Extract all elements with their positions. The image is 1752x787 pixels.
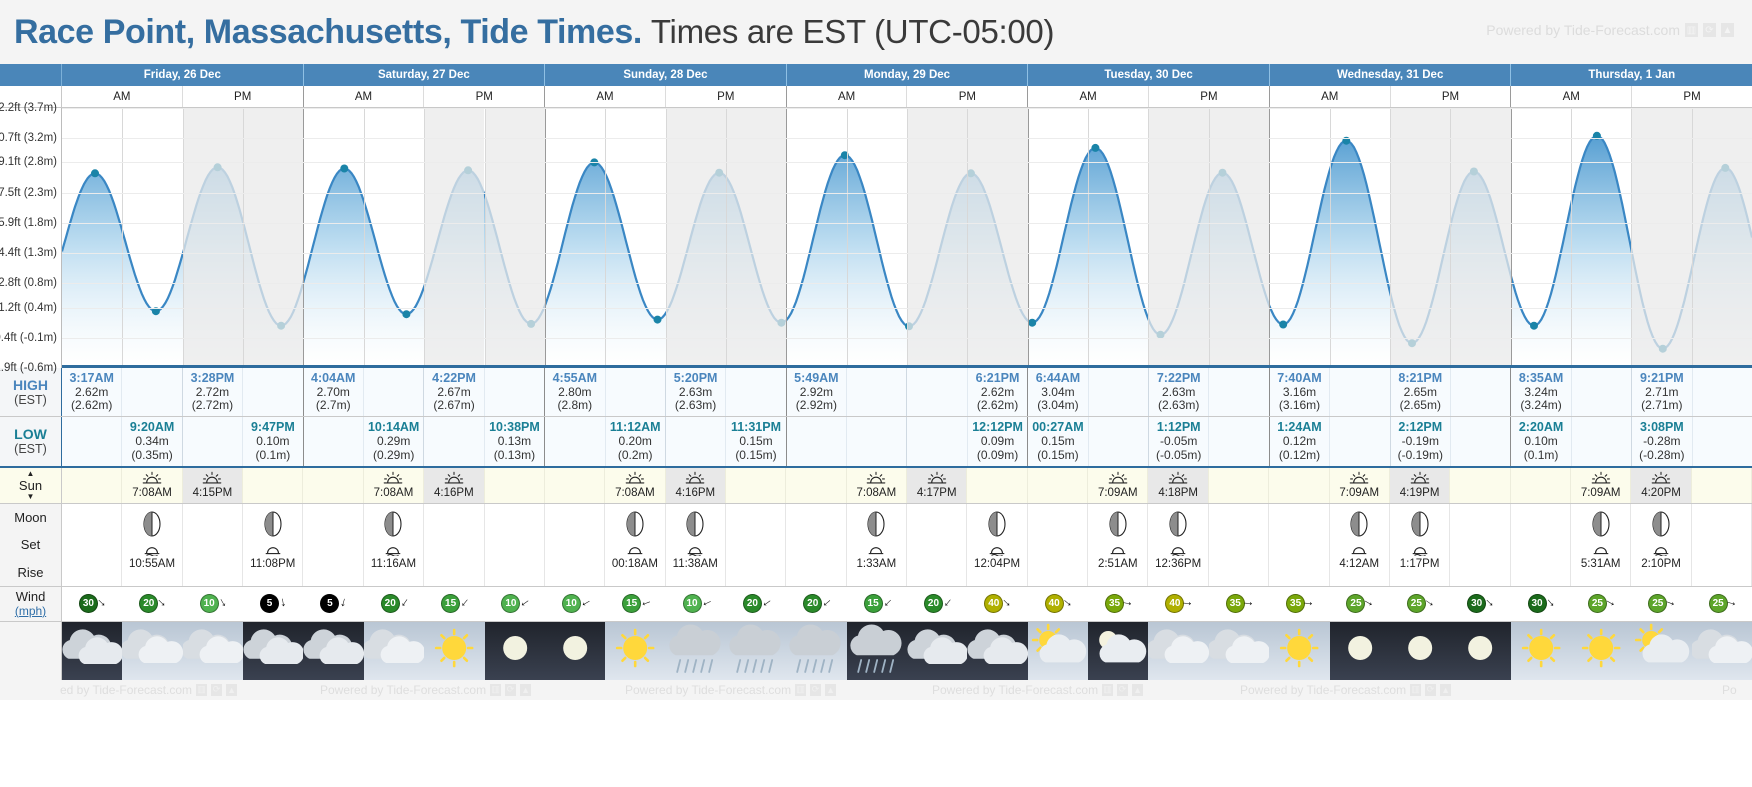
tide-time: 10:14AM: [368, 420, 419, 435]
chart-gridline-v-15: [967, 108, 968, 368]
tide-time: 4:04AM: [311, 371, 355, 386]
high-tide-cell-15: 6:21PM2.62m(2.62m): [968, 368, 1028, 416]
tide-height: 3.24m: [1524, 386, 1557, 400]
low-tide-cell-2: [183, 417, 243, 465]
tide-time: 4:55AM: [553, 371, 597, 386]
sun-cell-27: [1692, 468, 1752, 503]
half-header-am-0: AM: [62, 86, 183, 107]
tide-height-alt: (3.04m): [1037, 399, 1078, 413]
half-header-pm-9: PM: [1149, 86, 1270, 107]
tide-height: 0.10m: [256, 435, 289, 449]
wind-cell-8: 10↑: [545, 587, 605, 621]
chart-shaded-band-18: [1148, 108, 1208, 368]
wind-cell-6: 15↑: [424, 587, 484, 621]
moon-label-text: Moon: [14, 510, 47, 525]
weather-cell-26: [1631, 622, 1691, 680]
chart-gridline-v-22: [1390, 108, 1391, 368]
weather-cell-25: [1571, 622, 1631, 680]
wind-row-label: Wind (mph): [0, 587, 62, 621]
tide-height: 0.20m: [619, 435, 652, 449]
moon-time: 10:55AM: [129, 558, 175, 571]
high-tide-marker-4: [340, 165, 348, 173]
moon-phase-icon: [1167, 511, 1189, 537]
caret-down-icon: ▼: [27, 493, 35, 501]
tide-height-alt: (0.1m): [1524, 449, 1559, 463]
tide-time: 2:12PM: [1398, 420, 1442, 435]
wind-cell-12: 20↑: [786, 587, 846, 621]
sun-cell-14: 4:17PM: [907, 468, 967, 503]
tide-height-alt: (3.16m): [1279, 399, 1320, 413]
high-tide-cell-1: [122, 368, 182, 416]
moonset-icon: [1410, 543, 1430, 556]
chart-gridline-h-4: [62, 223, 1752, 224]
weather-cell-1: [122, 622, 182, 680]
chart-shaded-band-2: [183, 108, 243, 368]
moonset-icon: [142, 543, 162, 556]
tide-icon: ▲: [1132, 684, 1143, 696]
sun-cell-1: 7:08AM: [122, 468, 182, 503]
sun-cell-18: 4:18PM: [1148, 468, 1208, 503]
wind-direction-arrow-icon: ↑: [1423, 598, 1437, 611]
tide-height-alt: (2.62m): [71, 399, 112, 413]
rain-icon: [847, 622, 907, 680]
half-header-label: PM: [476, 91, 493, 103]
tide-icon: ▲: [226, 684, 237, 696]
y-axis-tick-6: 2.8ft (0.8m): [0, 277, 57, 289]
chart-gridline-v-2: [183, 108, 184, 368]
weather-cell-8: [545, 622, 605, 680]
chart-gridline-v-16: [1028, 108, 1029, 368]
low-tide-label: LOW (EST): [0, 417, 62, 465]
low-tide-marker-15: [1028, 319, 1036, 327]
wind-row: Wind (mph) 30↑20↑10↑5↑5↑20↑15↑10↑10↑15↑1…: [0, 587, 1752, 622]
sunset-icon: [1650, 471, 1672, 486]
sun-cell-13: 7:08AM: [847, 468, 907, 503]
wind-direction-arrow-icon: ↑: [458, 597, 471, 611]
tide-height: 2.63m: [1162, 386, 1195, 400]
sunny-icon: [424, 622, 484, 680]
sunset-icon: [1167, 471, 1189, 486]
weather-row-label: [0, 622, 62, 680]
half-header-label: AM: [1321, 91, 1338, 103]
moonrise-icon: [866, 543, 886, 556]
wind-direction-arrow-icon: ↑: [1484, 597, 1498, 611]
chart-gridline-v-23: [1450, 108, 1451, 368]
wind-speed-badge: 20: [381, 594, 400, 613]
moonset-icon: [1168, 543, 1188, 556]
wind-direction-arrow-icon: ↑: [1182, 600, 1196, 608]
moon-phase-icon: [141, 511, 163, 537]
low-tide-cell-4: [304, 417, 364, 465]
half-header-pm-11: PM: [1391, 86, 1512, 107]
high-tide-cell-0: 3:17AM2.62m(2.62m): [62, 368, 122, 416]
low-tide-cell-19: [1209, 417, 1269, 465]
moon-cell-17: 2:51AM: [1088, 504, 1148, 586]
tide-height-alt: (0.1m): [256, 449, 291, 463]
tide-chart: 12.2ft (3.7m)10.7ft (3.2m)9.1ft (2.8m)7.…: [0, 108, 1752, 368]
chart-icon: ▥: [490, 684, 501, 696]
wind-label-text: Wind: [16, 589, 46, 604]
moon-cell-26: 2:10PM: [1631, 504, 1691, 586]
wind-direction-arrow-icon: ↑: [1001, 597, 1015, 611]
low-tide-cell-26: 3:08PM-0.28m(-0.28m): [1632, 417, 1692, 465]
sun-time: 4:17PM: [917, 487, 957, 500]
partly-cloudy-icon: [1631, 622, 1691, 680]
moon-time: 2:10PM: [1641, 558, 1681, 571]
moon-row-label: Moon Set Rise: [0, 504, 62, 586]
wind-direction-arrow-icon: ↑: [1362, 598, 1377, 610]
chart-gridline-v-25: [1571, 108, 1572, 368]
wind-cell-4: 5↑: [303, 587, 363, 621]
tide-height-alt: (2.62m): [977, 399, 1018, 413]
tide-time: 9:21PM: [1640, 371, 1684, 386]
wind-cell-26: 25↑: [1631, 587, 1691, 621]
half-header-am-12: AM: [1511, 86, 1632, 107]
moon-cell-1: 10:55AM: [122, 504, 182, 586]
wind-direction-arrow-icon: ↑: [217, 597, 229, 612]
wind-direction-arrow-icon: ↑: [1121, 600, 1135, 609]
half-header-label: PM: [717, 91, 734, 103]
tide-time: 8:21PM: [1398, 371, 1442, 386]
wind-cell-5: 20↑: [364, 587, 424, 621]
low-tide-cell-7: 10:38PM0.13m(0.13m): [485, 417, 545, 465]
chart-gridline-h-8: [62, 338, 1752, 339]
chart-gridline-h-6: [62, 283, 1752, 284]
wind-cell-2: 10↑: [183, 587, 243, 621]
chart-gridline-v-4: [303, 108, 304, 368]
wind-cell-7: 10↑: [485, 587, 545, 621]
high-tide-cell-21: [1330, 368, 1390, 416]
wind-direction-arrow-icon: ↑: [1664, 599, 1678, 610]
rain-icon: [666, 622, 726, 680]
weather-cell-13: [847, 622, 907, 680]
low-tide-cell-9: 11:12AM0.20m(0.2m): [606, 417, 666, 465]
y-axis-tick-2: 9.1ft (2.8m): [0, 156, 57, 168]
high-tide-cell-7: [485, 368, 545, 416]
moon-phase-icon: [865, 511, 887, 537]
cloudy-icon: [183, 622, 243, 680]
tide-height: 0.09m: [981, 435, 1014, 449]
sunrise-icon: [624, 471, 646, 486]
chart-gridline-v-11: [726, 108, 727, 368]
wind-cell-9: 15↑: [605, 587, 665, 621]
tide-icon: ▲: [520, 684, 531, 696]
low-tide-cell-25: [1572, 417, 1632, 465]
high-tide-cell-8: 4:55AM2.80m(2.8m): [545, 368, 605, 416]
tide-height-alt: (-0.19m): [1398, 449, 1443, 463]
wind-speed-badge: 20: [139, 594, 158, 613]
half-header-label: PM: [1442, 91, 1459, 103]
half-header-am-4: AM: [545, 86, 666, 107]
powered-by-watermark: Powered by Tide-Forecast.com ▥ ⟳ ▲: [1486, 22, 1734, 38]
high-tide-cell-22: 8:21PM2.65m(2.65m): [1391, 368, 1451, 416]
wind-speed-badge: 15: [441, 594, 460, 613]
chart-gridline-v-10: [666, 108, 667, 368]
tide-time: 4:22PM: [432, 371, 476, 386]
tide-curve-plot: [62, 108, 1752, 368]
chart-gridline-h-2: [62, 162, 1752, 163]
y-axis-tick-1: 10.7ft (3.2m): [0, 132, 57, 144]
sun-cell-7: [485, 468, 545, 503]
chart-gridline-v-17: [1088, 108, 1089, 368]
wind-direction-arrow-icon: ↑: [941, 597, 954, 611]
sunrise-icon: [865, 471, 887, 486]
footer-watermark-2: Powered by Tide-Forecast.com ▥ ⟳ ▲: [625, 683, 836, 697]
weather-cell-21: [1330, 622, 1390, 680]
chart-gridline-h-7: [62, 308, 1752, 309]
half-header-label: AM: [596, 91, 613, 103]
wind-speed-badge: 30: [1528, 594, 1547, 613]
axis-corner-spacer: [0, 64, 62, 86]
high-tide-cell-25: [1572, 368, 1632, 416]
weather-cell-12: [786, 622, 846, 680]
wind-direction-arrow-icon: ↑: [398, 597, 411, 611]
moon-cell-12: [786, 504, 846, 586]
tide-height: -0.19m: [1402, 435, 1439, 449]
high-tide-cell-17: [1089, 368, 1149, 416]
moon-cell-23: [1450, 504, 1510, 586]
clear-night-icon: [1450, 622, 1510, 680]
timezone-note: Times are EST (UTC-05:00): [651, 13, 1054, 51]
wind-speed-badge: 40: [1045, 594, 1064, 613]
tide-time: 9:20AM: [130, 420, 174, 435]
tide-height: 0.15m: [739, 435, 772, 449]
tide-height: 2.80m: [558, 386, 591, 400]
cloudy-icon: [1209, 622, 1269, 680]
moon-rise-label: Rise: [17, 565, 43, 580]
moon-phase-icon: [382, 511, 404, 537]
moon-time: 1:17PM: [1400, 558, 1440, 571]
low-tide-cell-10: [666, 417, 726, 465]
half-header-pm-7: PM: [907, 86, 1028, 107]
y-axis-tick-0: 12.2ft (3.7m): [0, 102, 57, 114]
wind-cell-3: 5↑: [243, 587, 303, 621]
half-header-am-2: AM: [304, 86, 425, 107]
sun-cell-25: 7:09AM: [1571, 468, 1631, 503]
day-header-4: Tuesday, 30 Dec: [1028, 64, 1270, 86]
half-header-pm-3: PM: [424, 86, 545, 107]
tide-height: 0.29m: [377, 435, 410, 449]
low-tide-cell-16: 00:27AM0.15m(0.15m): [1028, 417, 1088, 465]
moon-phase-icon: [262, 511, 284, 537]
high-tide-cell-3: [243, 368, 303, 416]
high-label-sub: (EST): [14, 393, 47, 407]
sunset-icon: [443, 471, 465, 486]
sun-cell-16: [1028, 468, 1088, 503]
high-tide-cell-2: 3:28PM2.72m(2.72m): [183, 368, 243, 416]
low-tide-cell-11: 11:31PM0.15m(0.15m): [726, 417, 786, 465]
night-cloudy-icon: [303, 622, 363, 680]
sun-row: ▲ Sun ▼ 7:08AM4:15PM7:08AM4:16PM7:08AM4:…: [0, 468, 1752, 504]
moon-phase-icon: [1409, 511, 1431, 537]
wind-cell-11: 20↑: [726, 587, 786, 621]
wind-unit-link[interactable]: (mph): [15, 604, 46, 618]
sun-time: 4:15PM: [193, 487, 233, 500]
chart-shaded-band-27: [1692, 108, 1752, 368]
wind-cell-13: 15↑: [847, 587, 907, 621]
high-tide-cell-12: 5:49AM2.92m(2.92m): [787, 368, 847, 416]
weather-cell-23: [1450, 622, 1510, 680]
moonset-icon: [685, 543, 705, 556]
tide-height-alt: (2.63m): [675, 399, 716, 413]
sun-cell-11: [726, 468, 786, 503]
tide-height: 0.13m: [498, 435, 531, 449]
high-tide-cell-18: 7:22PM2.63m(2.63m): [1149, 368, 1209, 416]
moonrise-icon: [1591, 543, 1611, 556]
chart-shaded-band-3: [243, 108, 303, 368]
footer-watermark-1: Powered by Tide-Forecast.com ▥ ⟳ ▲: [320, 683, 531, 697]
footer-watermark-4: Powered by Tide-Forecast.com ▥ ⟳ ▲: [1240, 683, 1451, 697]
sun-row-label: ▲ Sun ▼: [0, 468, 62, 503]
moon-cell-13: 1:33AM: [847, 504, 907, 586]
sun-time: 7:08AM: [857, 487, 897, 500]
sun-cell-19: [1209, 468, 1269, 503]
y-axis-tick-9: -1.9ft (-0.6m): [0, 362, 57, 374]
sunny-icon: [605, 622, 665, 680]
tide-height: 2.65m: [1404, 386, 1437, 400]
chart-gridline-v-19: [1209, 108, 1210, 368]
wind-cell-23: 30↑: [1450, 587, 1510, 621]
tide-time: 6:21PM: [976, 371, 1020, 386]
tide-height-alt: (2.67m): [433, 399, 474, 413]
high-tide-cell-26: 9:21PM2.71m(2.71m): [1632, 368, 1692, 416]
low-tide-cell-20: 1:24AM0.12m(0.12m): [1270, 417, 1330, 465]
wind-cell-14: 20↑: [907, 587, 967, 621]
tide-height: 3.16m: [1283, 386, 1316, 400]
half-header-label: PM: [234, 91, 251, 103]
wind-cell-16: 40↑: [1028, 587, 1088, 621]
low-label-sub: (EST): [14, 442, 47, 456]
low-tide-cell-23: [1451, 417, 1511, 465]
chart-shaded-band-23: [1450, 108, 1510, 368]
low-tide-cell-27: [1693, 417, 1752, 465]
tide-height: 2.67m: [437, 386, 470, 400]
moon-cell-27: [1692, 504, 1752, 586]
moon-cell-3: 11:08PM: [243, 504, 303, 586]
tide-height-alt: (2.7m): [316, 399, 351, 413]
refresh-icon: ⟳: [810, 684, 821, 696]
chart-shaded-band-26: [1631, 108, 1691, 368]
chart-gridline-v-26: [1631, 108, 1632, 368]
low-tide-cell-21: [1330, 417, 1390, 465]
wind-cell-1: 20↑: [122, 587, 182, 621]
weather-cell-16: [1028, 622, 1088, 680]
weather-cell-2: [183, 622, 243, 680]
day-header-1: Saturday, 27 Dec: [304, 64, 546, 86]
wind-direction-arrow-icon: ↑: [819, 597, 833, 610]
chart-gridline-v-1: [122, 108, 123, 368]
tide-height-alt: (2.63m): [1158, 399, 1199, 413]
footer-watermark-5: Po: [1722, 683, 1737, 697]
weather-cell-14: [907, 622, 967, 680]
weather-cell-6: [424, 622, 484, 680]
tide-height: 0.12m: [1283, 435, 1316, 449]
y-axis-tick-5: 4.4ft (1.3m): [0, 247, 57, 259]
chart-gridline-v-18: [1148, 108, 1149, 368]
moon-cell-2: [183, 504, 243, 586]
tide-height: 0.34m: [135, 435, 168, 449]
wind-direction-arrow-icon: ↑: [517, 598, 531, 611]
tide-time: 1:24AM: [1277, 420, 1321, 435]
high-label-main: HIGH: [13, 377, 48, 393]
sun-cell-9: 7:08AM: [605, 468, 665, 503]
wind-cell-21: 25↑: [1330, 587, 1390, 621]
day-header-label: Wednesday, 31 Dec: [1337, 69, 1443, 81]
y-axis-tick-3: 7.5ft (2.3m): [0, 187, 57, 199]
sunset-icon: [684, 471, 706, 486]
tide-time: 7:22PM: [1157, 371, 1201, 386]
high-tide-cell-6: 4:22PM2.67m(2.67m): [424, 368, 484, 416]
y-axis-tick-8: -0.4ft (-0.1m): [0, 332, 57, 344]
day-header-label: Saturday, 27 Dec: [378, 69, 470, 81]
sunrise-icon: [1348, 471, 1370, 486]
low-tide-cell-18: 1:12PM-0.05m(-0.05m): [1149, 417, 1209, 465]
chart-icon: ▥: [795, 684, 806, 696]
moon-cell-4: [303, 504, 363, 586]
sun-cell-15: [967, 468, 1027, 503]
high-tide-cell-24: 8:35AM3.24m(3.24m): [1511, 368, 1571, 416]
sunset-icon: [926, 471, 948, 486]
low-tide-cell-15: 12:12PM0.09m(0.09m): [968, 417, 1028, 465]
rain-icon: [726, 622, 786, 680]
tide-icon: ▲: [1440, 684, 1451, 696]
night-cloudy-icon: [907, 622, 967, 680]
low-tide-cell-0: [62, 417, 122, 465]
moon-time: 12:36PM: [1155, 558, 1201, 571]
day-header-label: Monday, 29 Dec: [864, 69, 950, 81]
wind-cell-18: 40↑: [1148, 587, 1208, 621]
tide-forecast-page: Race Point, Massachusetts, Tide Times. T…: [0, 0, 1752, 787]
weather-cell-5: [364, 622, 424, 680]
low-tide-marker-9: [654, 316, 662, 324]
tide-time: 8:35AM: [1519, 371, 1563, 386]
high-tide-cell-23: [1451, 368, 1511, 416]
sun-cell-21: 7:09AM: [1330, 468, 1390, 503]
sunset-icon: [201, 471, 223, 486]
tide-time: 7:40AM: [1277, 371, 1321, 386]
partly-cloudy-night-icon: [1088, 622, 1148, 680]
footer-watermark-3: Powered by Tide-Forecast.com ▥ ⟳ ▲: [932, 683, 1143, 697]
cloudy-icon: [122, 622, 182, 680]
cloudy-icon: [1148, 622, 1208, 680]
refresh-icon: ⟳: [1117, 684, 1128, 696]
weather-cell-11: [726, 622, 786, 680]
sun-cell-26: 4:20PM: [1631, 468, 1691, 503]
tide-height: 2.72m: [196, 386, 229, 400]
sun-cell-17: 7:09AM: [1088, 468, 1148, 503]
high-tide-cell-5: [364, 368, 424, 416]
sun-time: 7:08AM: [615, 487, 655, 500]
chart-shaded-band-6: [424, 108, 484, 368]
tide-height-alt: (2.72m): [192, 399, 233, 413]
sunrise-icon: [141, 471, 163, 486]
high-tide-row: HIGH (EST) 3:17AM2.62m(2.62m)3:28PM2.72m…: [0, 368, 1752, 417]
high-tide-cell-4: 4:04AM2.70m(2.7m): [304, 368, 364, 416]
moon-time: 12:04PM: [974, 558, 1020, 571]
weather-cell-24: [1511, 622, 1571, 680]
tide-time: 10:38PM: [489, 420, 540, 435]
half-header-label: AM: [838, 91, 855, 103]
chart-y-axis: 12.2ft (3.7m)10.7ft (3.2m)9.1ft (2.8m)7.…: [0, 108, 62, 368]
moon-cell-15: 12:04PM: [967, 504, 1027, 586]
sun-time: 7:09AM: [1581, 487, 1621, 500]
sun-time: 7:08AM: [132, 487, 172, 500]
chart-gridline-v-12: [786, 108, 787, 368]
wind-speed-badge: 40: [984, 594, 1003, 613]
low-tide-marker-23: [1530, 322, 1538, 330]
wind-cell-15: 40↑: [967, 587, 1027, 621]
page-footer: ed by Tide-Forecast.com ▥ ⟳ ▲ Powered by…: [0, 680, 1752, 700]
